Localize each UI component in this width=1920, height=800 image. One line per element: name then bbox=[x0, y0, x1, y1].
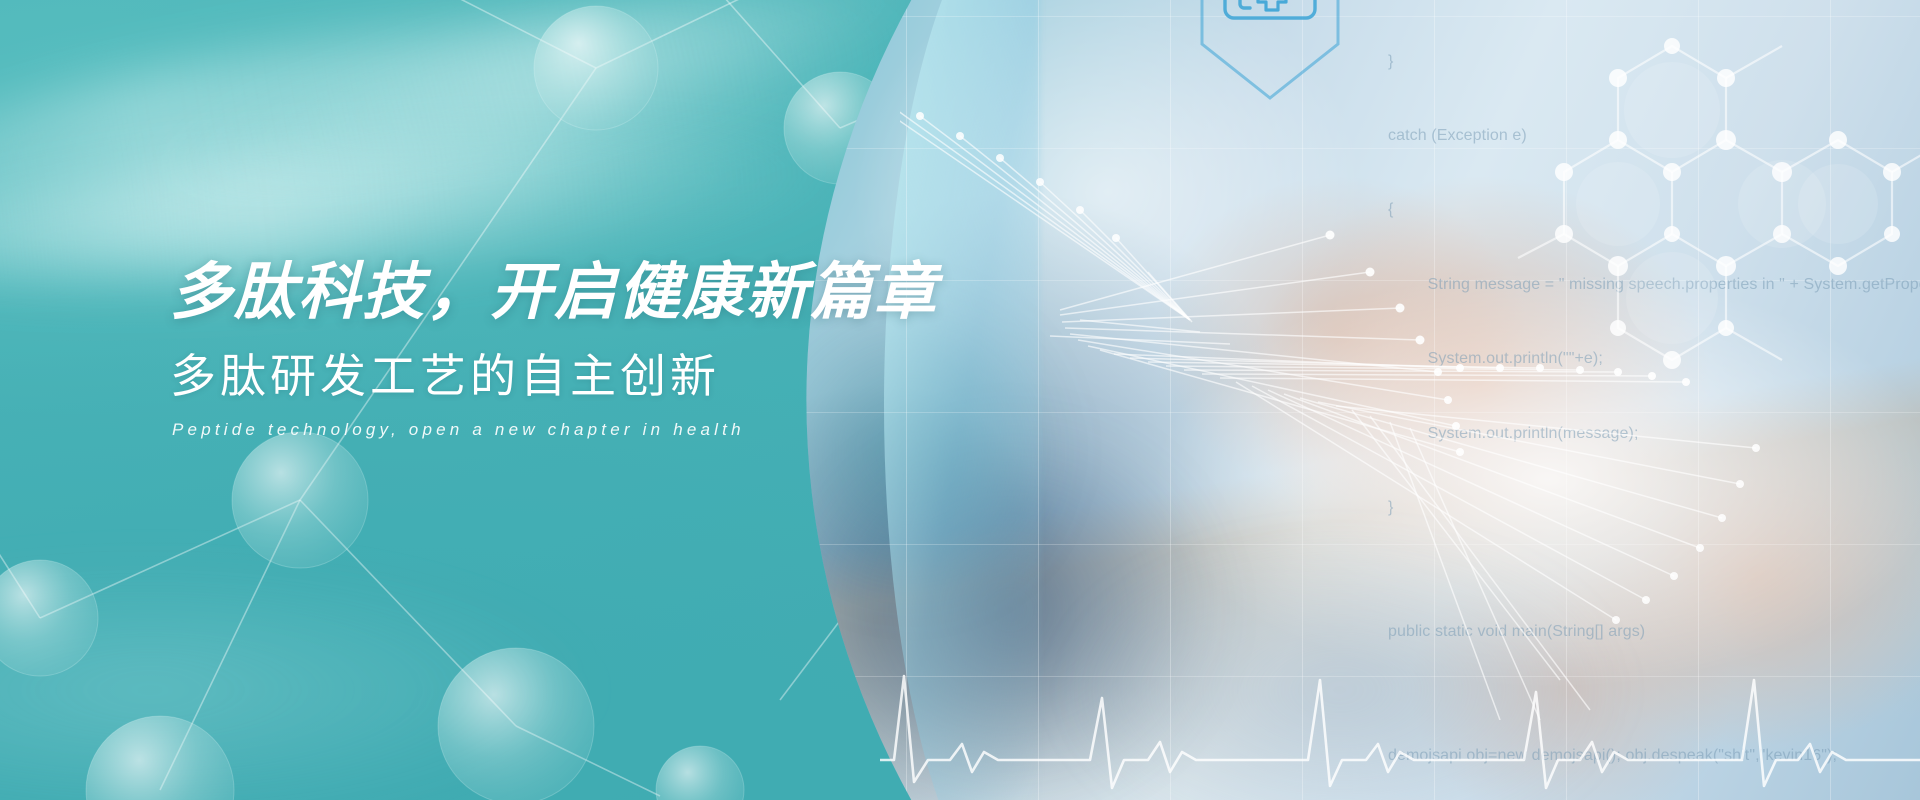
doctor-writing-photograph bbox=[760, 0, 1920, 800]
hero-copy-block: 多肽科技，开启健康新篇章 多肽研发工艺的自主创新 Peptide technol… bbox=[170, 258, 930, 440]
page-title: 多肽科技，开启健康新篇章 bbox=[170, 258, 930, 327]
hero-banner: } catch (Exception e) { String message =… bbox=[0, 0, 1920, 800]
photo-highlight bbox=[1060, 540, 1620, 800]
page-subtitle: 多肽研发工艺的自主创新 bbox=[170, 349, 930, 403]
english-tagline: Peptide technology, open a new chapter i… bbox=[172, 420, 930, 440]
